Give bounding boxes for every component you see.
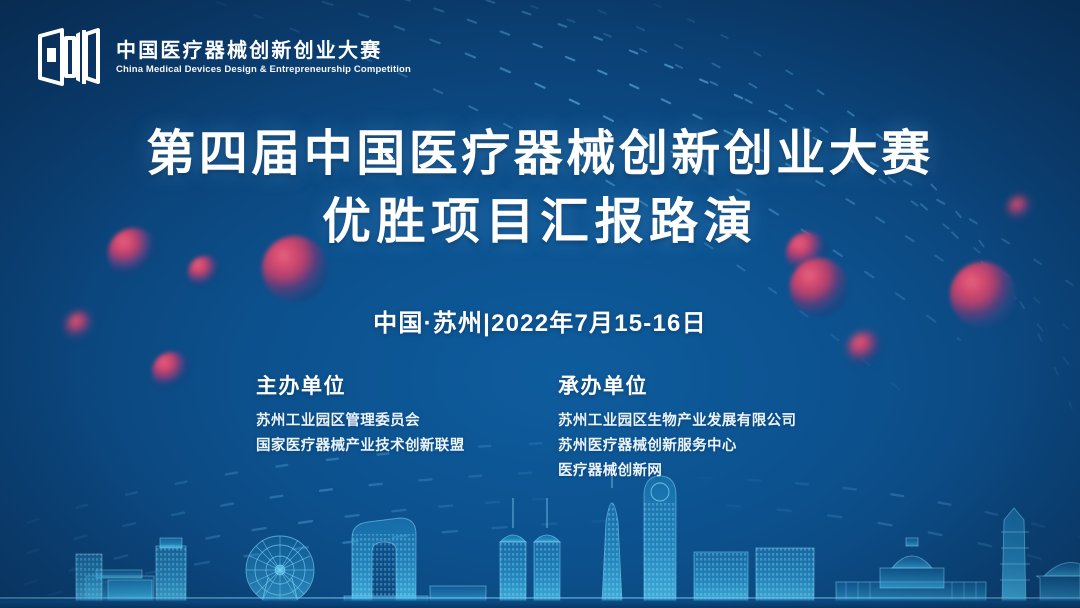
open-door-window-logo-icon [36,26,102,88]
skyline-ground-strip [0,598,1080,608]
logo-english-name: China Medical Devices Design & Entrepren… [116,65,411,75]
organizer-column-host: 主办单位 苏州工业园区管理委员会 国家医疗器械产业技术创新联盟 [248,370,540,484]
organizer-item: 医疗器械创新网 [558,459,832,484]
event-date-location: 中国·苏州|2022年7月15-16日 [0,303,1080,338]
organizer-heading-host: 主办单位 [256,370,540,400]
organizer-item: 苏州工业园区管理委员会 [256,409,540,434]
page-title: 第四届中国医疗器械创新创业大赛 优胜项目汇报路演 [0,126,1080,252]
organizers-section: 主办单位 苏州工业园区管理委员会 国家医疗器械产业技术创新联盟 承办单位 苏州工… [0,370,1080,484]
organizer-heading-coorganizer: 承办单位 [558,370,832,400]
organizer-item: 苏州工业园区生物产业发展有限公司 [558,409,832,434]
poster-canvas: 中国医疗器械创新创业大赛 China Medical Devices Desig… [0,0,1080,608]
title-line-2: 优胜项目汇报路演 [0,194,1080,252]
organizer-column-coorganizer: 承办单位 苏州工业园区生物产业发展有限公司 苏州医疗器械创新服务中心 医疗器械创… [540,370,832,484]
competition-logo-lockup: 中国医疗器械创新创业大赛 China Medical Devices Desig… [36,26,411,88]
title-line-1: 第四届中国医疗器械创新创业大赛 [0,126,1080,184]
logo-chinese-name: 中国医疗器械创新创业大赛 [116,40,411,62]
organizer-item: 国家医疗器械产业技术创新联盟 [256,434,540,459]
organizer-item: 苏州医疗器械创新服务中心 [558,434,832,459]
